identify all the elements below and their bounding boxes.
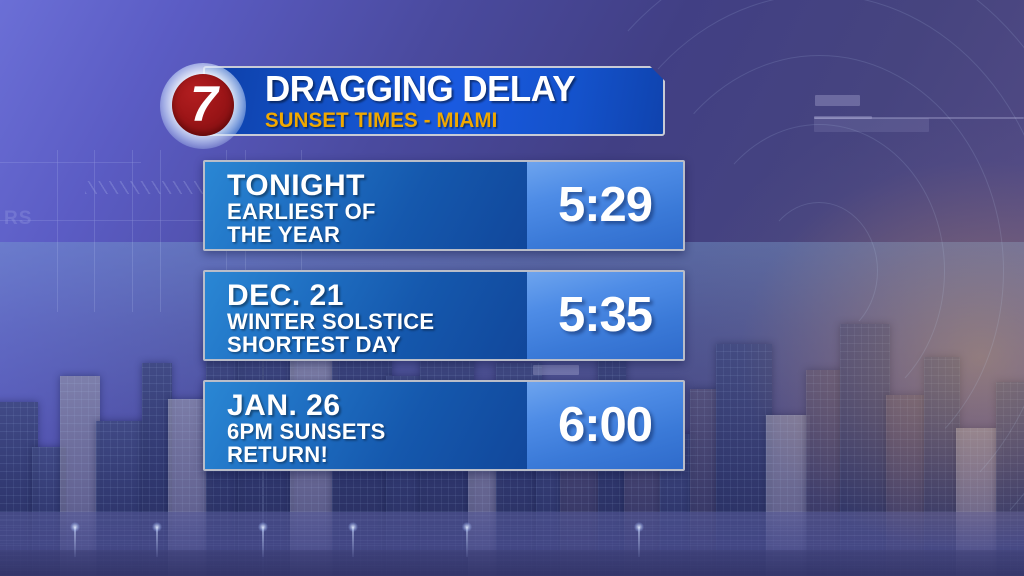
row-value-panel: 5:35 — [527, 272, 683, 359]
page-subtitle: SUNSET TIMES - MIAMI — [265, 110, 643, 131]
header-banner: DRAGGING DELAY SUNSET TIMES - MIAMI — [203, 66, 665, 136]
row-title: JAN. 26 — [227, 391, 527, 421]
row-label-panel: TONIGHT EARLIEST OF THE YEAR — [205, 162, 527, 249]
weather-graphic-stage: RS DRAGGING DELAY SUNSET TIMES - MIAMI 7… — [0, 0, 1024, 576]
row-label-panel: DEC. 21 WINTER SOLSTICE SHORTEST DAY — [205, 272, 527, 359]
sunset-time: 5:29 — [558, 181, 652, 230]
row-value-panel: 6:00 — [527, 382, 683, 469]
sunset-times-list: TONIGHT EARLIEST OF THE YEAR 5:29 DEC. 2… — [203, 160, 685, 471]
row-subtitle-line-2: SHORTEST DAY — [227, 334, 527, 357]
accent-bar — [815, 95, 860, 106]
list-item: DEC. 21 WINTER SOLSTICE SHORTEST DAY 5:3… — [203, 270, 685, 361]
row-subtitle-line-2: RETURN! — [227, 444, 527, 467]
row-subtitle-line-1: WINTER SOLSTICE — [227, 311, 527, 334]
page-title: DRAGGING DELAY — [265, 71, 643, 106]
row-subtitle-line-1: EARLIEST OF — [227, 201, 527, 224]
channel-7-logo: 7 — [160, 63, 246, 149]
row-title: DEC. 21 — [227, 281, 527, 311]
accent-bar — [814, 118, 929, 132]
logo-number: 7 — [172, 79, 234, 129]
sunset-time: 6:00 — [558, 401, 652, 450]
row-subtitle-line-1: 6PM SUNSETS — [227, 421, 527, 444]
row-title: TONIGHT — [227, 171, 527, 201]
header-text-group: DRAGGING DELAY SUNSET TIMES - MIAMI — [265, 66, 655, 136]
sunset-time: 5:35 — [558, 291, 652, 340]
faint-overlay-text: RS — [4, 208, 32, 230]
logo-disc: 7 — [172, 74, 234, 136]
list-item: JAN. 26 6PM SUNSETS RETURN! 6:00 — [203, 380, 685, 471]
row-value-panel: 5:29 — [527, 162, 683, 249]
list-item: TONIGHT EARLIEST OF THE YEAR 5:29 — [203, 160, 685, 251]
row-subtitle-line-2: THE YEAR — [227, 224, 527, 247]
row-label-panel: JAN. 26 6PM SUNSETS RETURN! — [205, 382, 527, 469]
